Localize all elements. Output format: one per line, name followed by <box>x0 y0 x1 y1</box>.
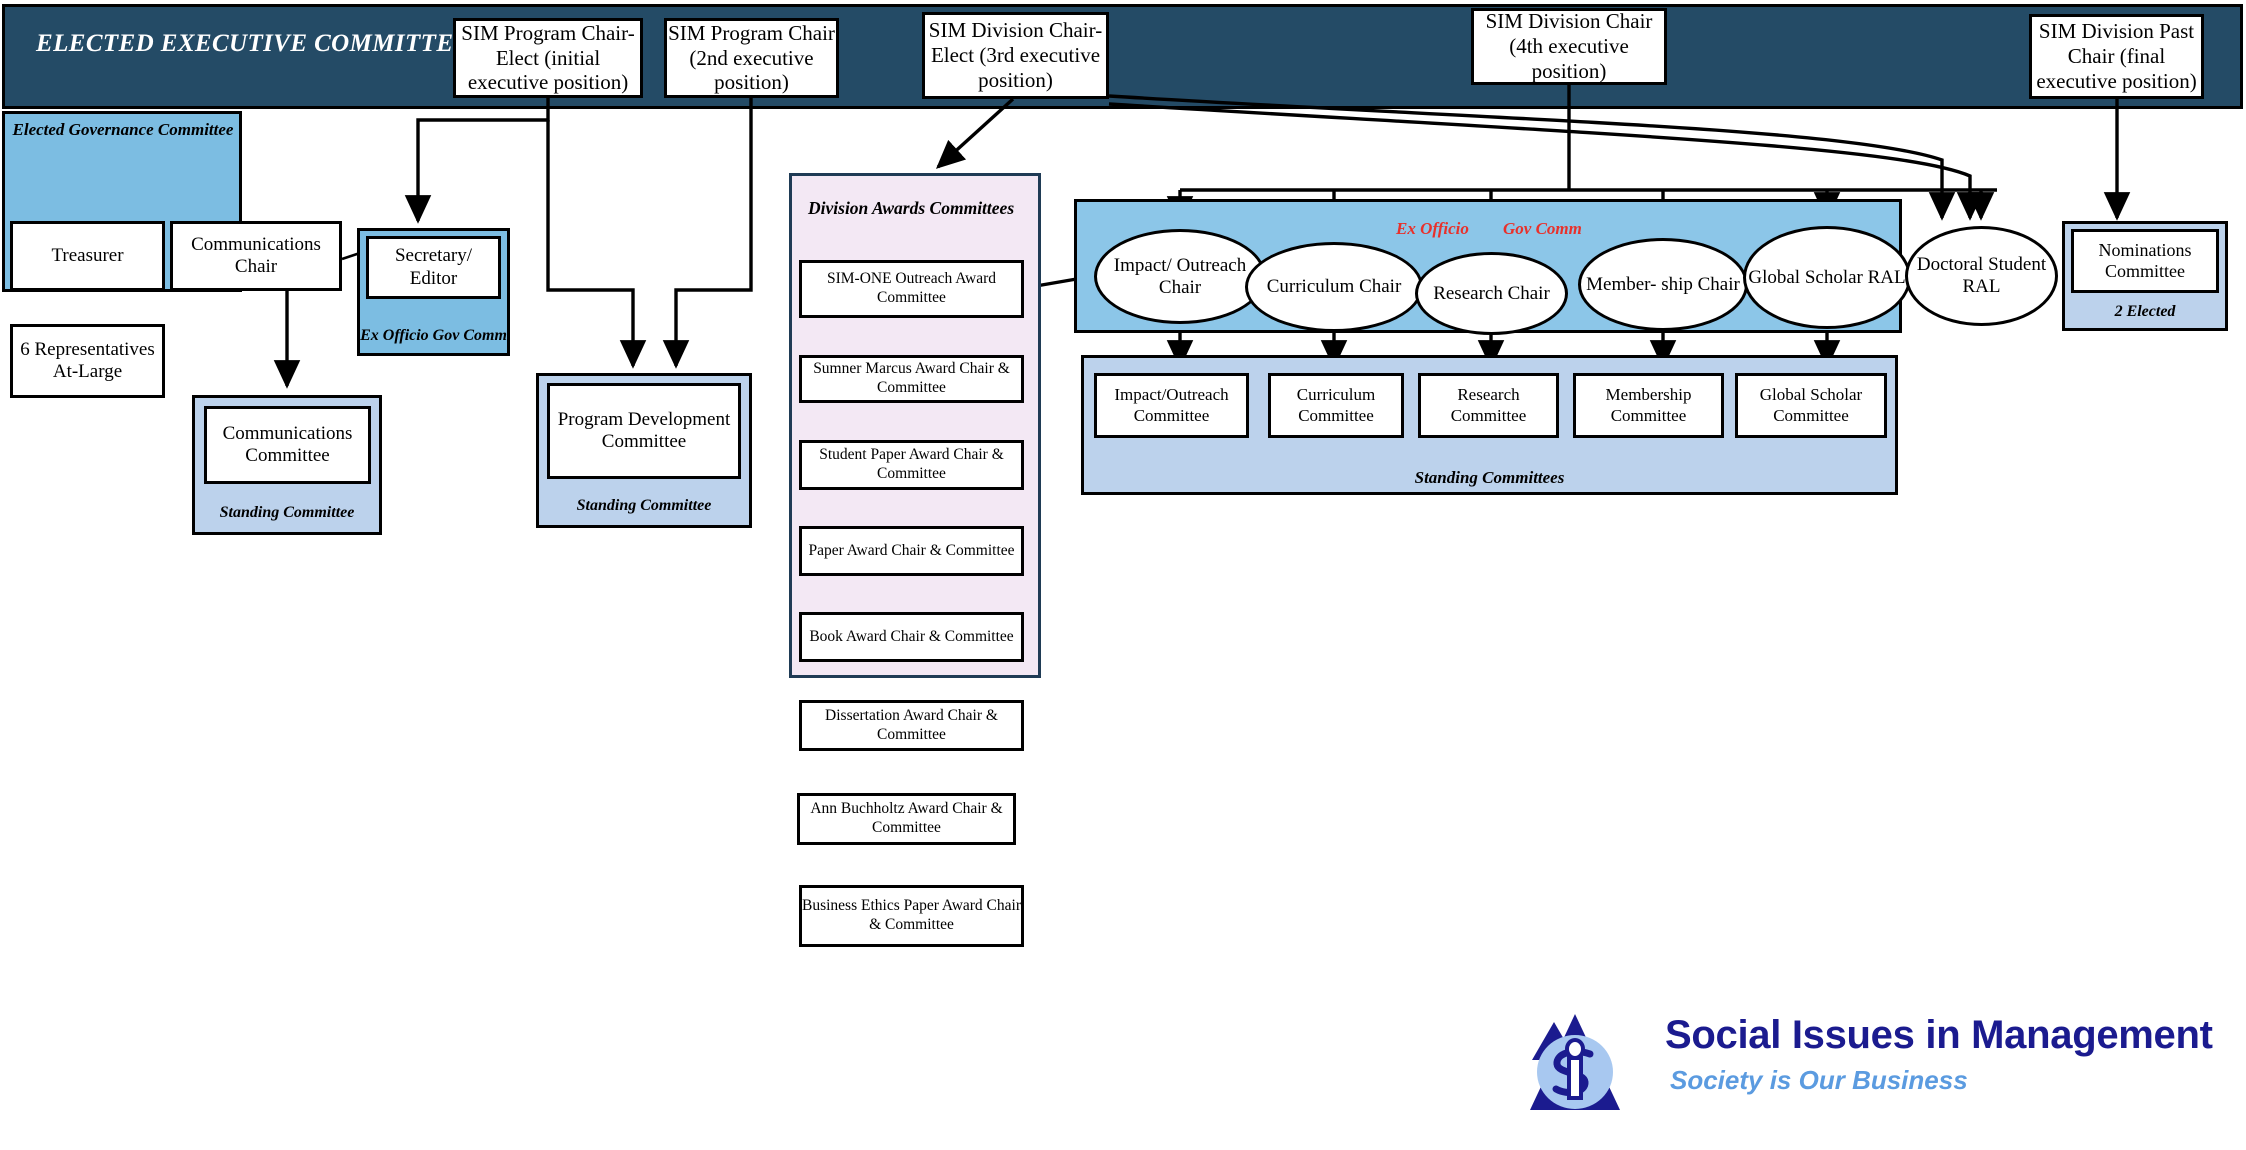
award-box-student-paper[interactable]: Student Paper Award Chair & Committee <box>799 440 1024 490</box>
nominations-committee-caption: 2 Elected <box>2065 303 2225 321</box>
sim-logo-mark <box>1510 1010 1640 1118</box>
elected-governance-title: Elected Governance Committee <box>10 120 236 140</box>
chair-ellipse-membership[interactable]: Member- ship Chair <box>1578 238 1748 331</box>
header-box-sim-program-chair-elect[interactable]: SIM Program Chair-Elect (initial executi… <box>453 18 643 98</box>
representatives-at-large-box[interactable]: 6 Representatives At-Large <box>10 324 165 398</box>
secretary-editor-caption: Ex Officio Gov Comm <box>360 327 507 345</box>
standing-box-global-scholar[interactable]: Global Scholar Committee <box>1735 373 1887 438</box>
header-box-sim-division-chair-elect[interactable]: SIM Division Chair-Elect (3rd executive … <box>922 12 1109 99</box>
division-awards-panel <box>789 173 1041 678</box>
header-box-sim-division-past-chair[interactable]: SIM Division Past Chair (final executive… <box>2029 14 2204 99</box>
communications-chair-box[interactable]: Communications Chair <box>170 221 342 291</box>
award-box-book[interactable]: Book Award Chair & Committee <box>799 612 1024 662</box>
award-box-business-ethics-paper[interactable]: Business Ethics Paper Award Chair & Comm… <box>799 885 1024 947</box>
award-box-ann-buchholtz[interactable]: Ann Buchholtz Award Chair & Committee <box>797 793 1016 845</box>
secretary-editor-box[interactable]: Secretary/ Editor <box>366 236 501 299</box>
award-box-sim-one-outreach[interactable]: SIM-ONE Outreach Award Committee <box>799 260 1024 318</box>
award-box-dissertation[interactable]: Dissertation Award Chair & Committee <box>799 700 1024 751</box>
standing-box-curriculum[interactable]: Curriculum Committee <box>1268 373 1404 438</box>
standing-box-membership[interactable]: Membership Committee <box>1573 373 1724 438</box>
program-development-caption: Standing Committee <box>539 497 749 515</box>
header-box-sim-division-chair[interactable]: SIM Division Chair (4th executive positi… <box>1471 8 1667 85</box>
standing-box-impact-outreach[interactable]: Impact/Outreach Committee <box>1094 373 1249 438</box>
treasurer-box[interactable]: Treasurer <box>10 221 165 291</box>
chair-ellipse-doctoral-student-ral[interactable]: Doctoral Student RAL <box>1905 226 2058 326</box>
chair-ellipse-curriculum[interactable]: Curriculum Chair <box>1245 242 1423 332</box>
logo-title: Social Issues in Management <box>1665 1013 2213 1058</box>
communications-committee-caption: Standing Committee <box>195 504 379 522</box>
program-development-box[interactable]: Program Development Committee <box>547 383 741 479</box>
standing-box-research[interactable]: Research Committee <box>1418 373 1559 438</box>
award-box-sumner-marcus[interactable]: Sumner Marcus Award Chair & Committee <box>799 355 1024 403</box>
nominations-committee-box[interactable]: Nominations Committee <box>2071 229 2219 293</box>
header-box-sim-program-chair[interactable]: SIM Program Chair (2nd executive positio… <box>664 18 839 98</box>
page-title: ELECTED EXECUTIVE COMMITTEE <box>36 30 471 58</box>
logo-tagline: Society is Our Business <box>1670 1065 1968 1096</box>
org-chart-canvas: ELECTED EXECUTIVE COMMITTEE SIM Program … <box>0 0 2246 1150</box>
chair-ellipse-research[interactable]: Research Chair <box>1415 252 1568 335</box>
standing-committees-caption: Standing Committees <box>1081 468 1898 488</box>
award-box-paper[interactable]: Paper Award Chair & Committee <box>799 526 1024 576</box>
communications-committee-box[interactable]: Communications Committee <box>204 406 371 484</box>
sim-logo: Social Issues in Management Society is O… <box>1510 1010 2230 1120</box>
chair-ellipse-impact-outreach[interactable]: Impact/ Outreach Chair <box>1094 229 1266 324</box>
gov-comm-label: Gov Comm <box>1503 219 1582 239</box>
division-awards-title: Division Awards Committees <box>800 198 1038 219</box>
chair-ellipse-global-scholar-ral[interactable]: Global Scholar RAL <box>1743 226 1911 329</box>
ex-officio-label: Ex Officio <box>1396 219 1469 239</box>
connector-lines <box>0 0 2246 1150</box>
